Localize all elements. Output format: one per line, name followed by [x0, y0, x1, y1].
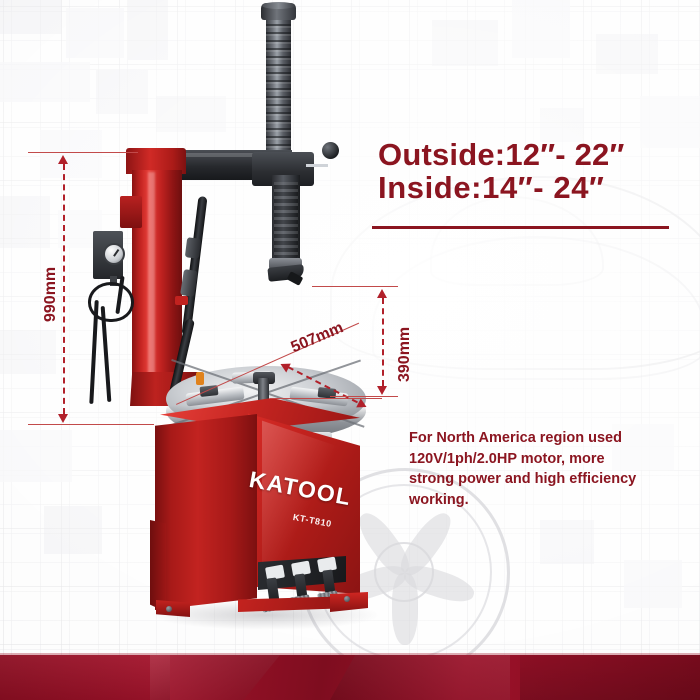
dim-height-bottom-extension — [28, 424, 154, 425]
dim-width-extension-right — [270, 398, 382, 399]
dim-height-top-extension — [28, 152, 138, 153]
lock-knob — [322, 142, 339, 159]
dim-height-line — [63, 164, 65, 414]
dim-height-arrow-top — [58, 155, 68, 164]
threaded-shaft-ribs — [266, 16, 291, 158]
dim-clearance-arrow-top — [377, 289, 387, 298]
air-hose-segment — [89, 300, 98, 404]
dim-clearance-top-extension — [312, 286, 398, 287]
hose-lever — [175, 296, 188, 305]
column-highlight — [148, 172, 155, 396]
clamp-adjust-knob — [196, 372, 204, 385]
dim-height-arrow-bottom — [58, 414, 68, 423]
base-bolt — [344, 596, 350, 602]
dim-clearance-label: 390mm — [396, 327, 414, 382]
bottom-crimson-band — [0, 655, 700, 700]
dim-clearance-line — [382, 298, 384, 386]
band-facet — [520, 655, 700, 700]
band-facet — [0, 655, 170, 700]
feature-description-text: For North America region used 120V/1ph/2… — [409, 428, 649, 510]
band-facet — [150, 655, 280, 700]
dim-height-label: 990mm — [42, 267, 60, 322]
cabinet-left-leg — [150, 520, 166, 612]
headline-block: Outside:12″- 22″ Inside:14″- 24″ — [378, 139, 678, 205]
headline-underline — [372, 226, 669, 229]
hose-coupler — [185, 237, 201, 259]
lock-knob-rod — [306, 164, 328, 167]
base-bolt — [166, 606, 172, 612]
headline-line-outside: Outside:12″- 22″ — [378, 139, 678, 172]
headline-line-inside: Inside:14″- 24″ — [378, 172, 678, 205]
tool-hose-upper — [182, 196, 208, 336]
tire-changer-machine: KATOOL KT-T810 — [0, 0, 700, 700]
dim-clearance-arrow-bottom — [377, 386, 387, 395]
column-bracket — [120, 196, 142, 228]
cabinet-front-panel — [155, 414, 257, 610]
base-foot-left — [156, 600, 190, 617]
band-facet — [330, 655, 510, 700]
dim-clearance-bottom-extension — [330, 396, 398, 397]
shaft-cap-top — [262, 2, 295, 9]
swing-arm-vertical-ribs — [274, 182, 298, 262]
poster-canvas: KATOOL KT-T810 990mm 507mm 390mm — [0, 0, 700, 700]
